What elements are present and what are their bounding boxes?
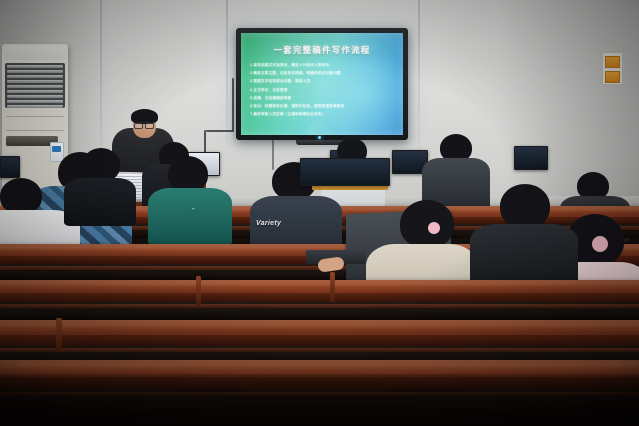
student-head: [0, 178, 42, 214]
slide-title: 一套完整稿件写作流程: [241, 44, 403, 56]
student-torso: [470, 224, 578, 286]
air-conditioner-top: [4, 46, 66, 60]
wall-seam-right: [418, 0, 420, 150]
student-head: [400, 200, 454, 248]
monitor: [0, 156, 20, 178]
jacket-logo-text: ▪▪: [192, 206, 195, 211]
screen-indicator-led: [318, 136, 321, 139]
wall-sign-plate: [602, 52, 623, 85]
monitor: [300, 158, 390, 186]
wall-sign-lower: [605, 71, 620, 83]
slide-line: 6.校对：标题核查补漏、错别字检查，图表数据表格核查: [250, 105, 397, 109]
desk-divider-post: [196, 276, 201, 306]
projection-screen-surface: 一套完整稿件写作流程 1.接到选题并开始策划，确定十分钟内人物采访 2.确定文章…: [241, 33, 403, 135]
hair-clip: [592, 236, 608, 252]
wall-sign-upper: [605, 56, 620, 68]
slide-line: 1.接到选题并开始策划，确定十分钟内人物采访: [250, 64, 397, 68]
slide-line: 2.确定文章主题，设定采访提纲，明确的采访对象问题: [250, 72, 397, 76]
hoodie-text: Variety: [256, 220, 281, 227]
foreground-shadow: [0, 374, 639, 426]
student-head: [500, 184, 550, 228]
student-head: [168, 156, 208, 192]
desk-divider-post: [330, 272, 335, 302]
bench-row-front-1: [0, 302, 639, 320]
desk-row-front-2: [0, 320, 639, 346]
student-torso: [64, 178, 136, 226]
screen-cable-horizontal: [206, 130, 234, 132]
slide-line: 5.成稿、交给编辑部审核: [250, 97, 397, 101]
hair-clip: [428, 222, 440, 234]
student-head: [82, 148, 120, 182]
floor-cable: [272, 140, 274, 170]
screen-cable-vertical: [232, 78, 234, 132]
desk-divider-post: [56, 318, 62, 352]
desk-row-front-1: [0, 280, 639, 302]
slide-line: 3.根据文字结构提出问题，联络人员: [250, 80, 397, 84]
student-torso: [148, 188, 232, 246]
presenter-glasses: [134, 122, 154, 127]
monitor: [514, 146, 548, 170]
classroom-photo-scene: 一套完整稿件写作流程 1.接到选题并开始策划，确定十分钟内人物采访 2.确定文章…: [0, 0, 639, 426]
wall-seam-mid: [226, 0, 228, 140]
slide-body: 1.接到选题并开始策划，确定十分钟内人物采访 2.确定文章主题，设定采访提纲，明…: [250, 64, 397, 121]
air-conditioner-grille: [5, 63, 65, 108]
slide-line: 4.正式采访、记录整理: [250, 89, 397, 93]
slide-line: 7.最终审核人员定稿（主编审核确定后发布）: [250, 113, 397, 117]
projection-screen: 一套完整稿件写作流程 1.接到选题并开始策划，确定十分钟内人物采访 2.确定文章…: [236, 28, 408, 140]
